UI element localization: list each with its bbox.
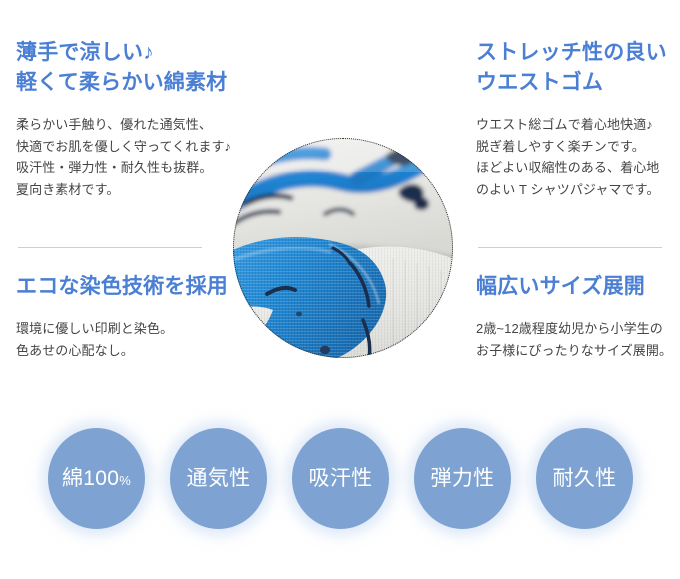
- feature-block-eco-dyeing: エコな染色技術を採用 環境に優しい印刷と染色。 色あせの心配なし。: [16, 272, 252, 361]
- badge-label: 吸汗性: [309, 468, 373, 489]
- product-feature-page: 薄手で涼しい♪ 軽くて柔らかい綿素材 柔らかい手触り、優れた通気性、 快適でお肌…: [0, 0, 680, 579]
- badge-label: 耐久性: [553, 468, 617, 489]
- badge-breathable: 通気性: [170, 428, 267, 529]
- feature-block-stretch-waist-elastic: ストレッチ性の良い ウエストゴム ウエスト総ゴムで着心地快適♪ 脱ぎ着しやすく楽…: [476, 38, 680, 200]
- feature-body: 柔らかい手触り、優れた通気性、 快適でお肌を優しく守ってくれます♪ 吸汗性・弾力…: [16, 114, 252, 200]
- feature-badge-row: 綿100% 通気性 吸汗性 弾力性 耐久性: [0, 424, 680, 534]
- divider-right: [478, 247, 662, 248]
- divider-left: [18, 247, 202, 248]
- feature-title: 薄手で涼しい♪ 軽くて柔らかい綿素材: [16, 38, 252, 98]
- badge-cotton-100: 綿100%: [48, 428, 145, 529]
- fabric-photo-art: [233, 138, 453, 358]
- fabric-closeup-photo: [233, 138, 453, 358]
- badge-durable: 耐久性: [536, 428, 633, 529]
- feature-body: ウエスト総ゴムで着心地快適♪ 脱ぎ着しやすく楽チンです。 ほどよい収縮性のある、…: [476, 114, 680, 200]
- feature-title: 幅広いサイズ展開: [476, 272, 680, 302]
- feature-title: エコな染色技術を採用: [16, 272, 252, 302]
- badge-sweat-absorbent: 吸汗性: [292, 428, 389, 529]
- feature-body: 環境に優しい印刷と染色。 色あせの心配なし。: [16, 318, 252, 361]
- badge-label: 綿100%: [62, 468, 131, 489]
- feature-title: ストレッチ性の良い ウエストゴム: [476, 38, 680, 98]
- badge-elastic: 弾力性: [414, 428, 511, 529]
- badge-label: 通気性: [187, 468, 251, 489]
- feature-block-wide-size-range: 幅広いサイズ展開 2歳~12歳程度幼児から小学生の お子様にぴったりなサイズ展開…: [476, 272, 680, 361]
- badge-label: 弾力性: [431, 468, 495, 489]
- feature-body: 2歳~12歳程度幼児から小学生の お子様にぴったりなサイズ展開。: [476, 318, 680, 361]
- feature-block-thin-cool-cotton: 薄手で涼しい♪ 軽くて柔らかい綿素材 柔らかい手触り、優れた通気性、 快適でお肌…: [16, 38, 252, 200]
